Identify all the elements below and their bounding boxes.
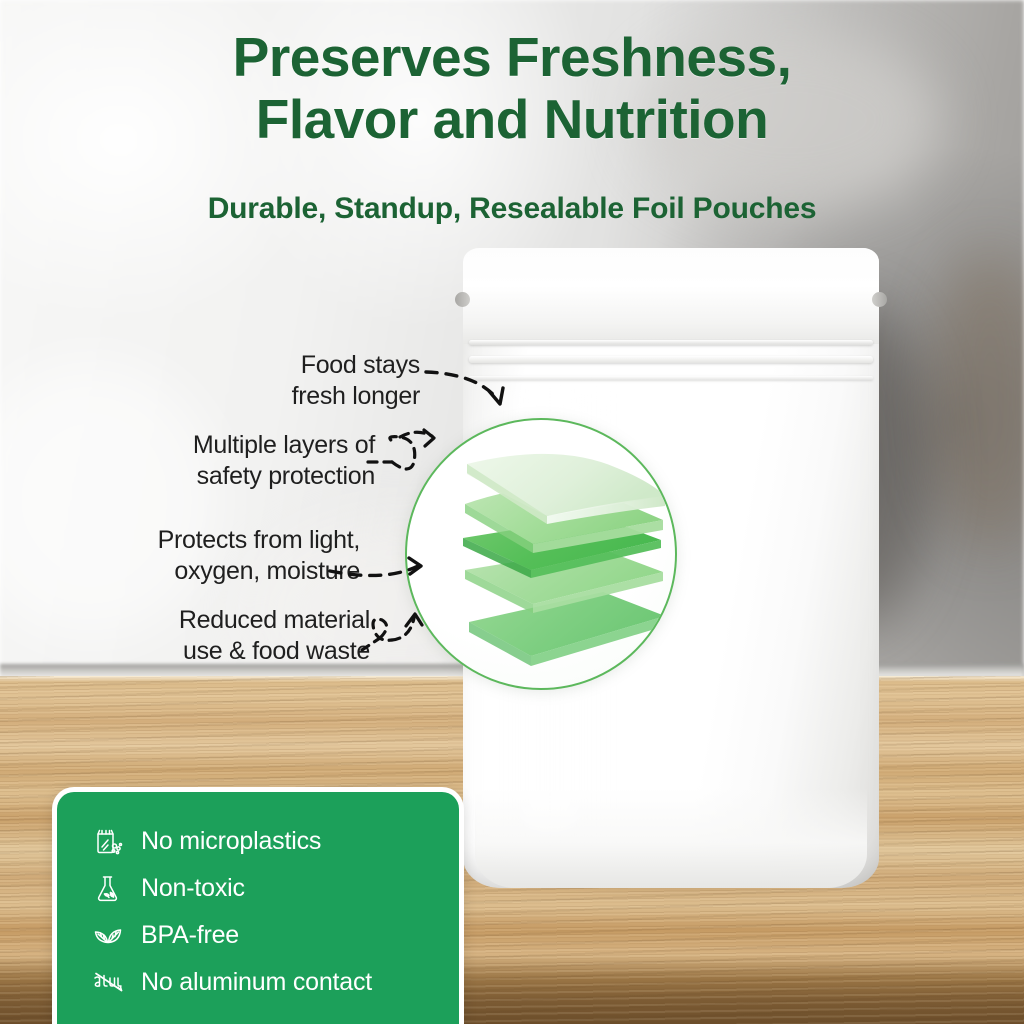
callout-line: Multiple layers of — [40, 430, 375, 461]
callout-line: use & food waste — [40, 636, 370, 667]
callout-line: oxygen, moisture — [30, 556, 360, 587]
callout-line: Food stays — [60, 350, 420, 381]
headline-line-2: Flavor and Nutrition — [0, 88, 1024, 150]
tear-notch-left-icon — [455, 292, 470, 307]
callout-line: Protects from light, — [30, 525, 360, 556]
layered-sheets-icon — [405, 418, 677, 690]
two-leaves-bpa-free-icon — [91, 919, 125, 953]
benefit-item-non-toxic: Non-toxic — [91, 865, 459, 912]
benefit-label: BPA-free — [141, 921, 239, 950]
pouch-seal-line — [469, 376, 873, 380]
callout-reduced-material: Reduced material use & food waste — [40, 605, 370, 667]
benefit-item-bpa-free: BPA-free — [91, 912, 459, 959]
pouch-seal-line — [469, 340, 873, 345]
plastic-bag-microplastics-icon — [91, 825, 125, 859]
callout-food-stays-fresh: Food stays fresh longer — [60, 350, 420, 412]
layers-illustration — [407, 420, 677, 690]
flask-leaf-nontoxic-icon — [91, 872, 125, 906]
callout-line: safety protection — [40, 461, 375, 492]
alu-crossed-out-icon — [91, 966, 125, 1000]
page-subheadline: Durable, Standup, Resealable Foil Pouche… — [0, 192, 1024, 226]
benefit-item-no-aluminum-contact: No aluminum contact — [91, 959, 459, 1006]
pouch-zipper-seal — [469, 356, 873, 363]
benefit-item-no-microplastics: No microplastics — [91, 818, 459, 865]
callout-protects-from-light: Protects from light, oxygen, moisture — [30, 525, 360, 587]
infographic-canvas: Preserves Freshness, Flavor and Nutritio… — [0, 0, 1024, 1024]
page-headline: Preserves Freshness, Flavor and Nutritio… — [0, 26, 1024, 150]
callout-line: Reduced material — [40, 605, 370, 636]
pouch-top-panel — [463, 248, 879, 344]
callout-multiple-layers: Multiple layers of safety protection — [40, 430, 375, 492]
benefits-card: No microplastics Non-toxic BPA-free — [52, 787, 464, 1024]
tear-notch-right-icon — [872, 292, 887, 307]
benefit-label: No microplastics — [141, 827, 321, 856]
benefit-label: No aluminum contact — [141, 968, 372, 997]
headline-line-1: Preserves Freshness, — [0, 26, 1024, 88]
benefit-label: Non-toxic — [141, 874, 245, 903]
callout-line: fresh longer — [60, 381, 420, 412]
